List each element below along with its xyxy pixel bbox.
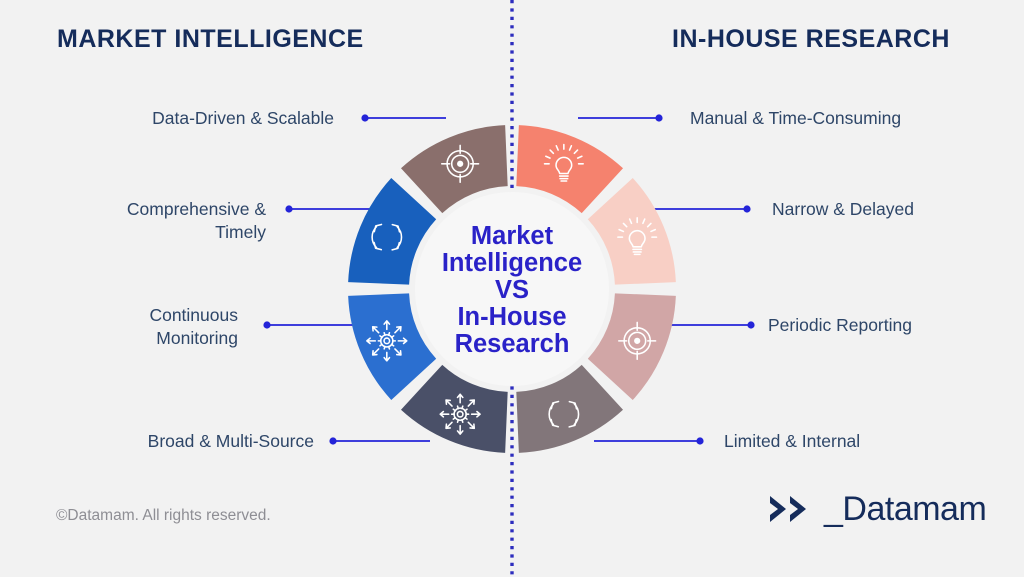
- center-title-line: VS: [495, 276, 529, 304]
- donut-diagram: MarketIntelligenceVSIn-HouseResearch: [0, 0, 1024, 577]
- center-title-line: Research: [455, 330, 570, 358]
- connector-dot: [263, 321, 270, 328]
- connector-dot: [743, 205, 750, 212]
- center-title-line: In-House: [457, 303, 566, 331]
- infographic-canvas: MARKET INTELLIGENCE IN-HOUSE RESEARCH Da…: [0, 0, 1024, 577]
- center-title-line: Intelligence: [442, 249, 582, 277]
- connector-dot: [655, 114, 662, 121]
- connector-dot: [285, 205, 292, 212]
- connector-dot: [696, 437, 703, 444]
- center-title-line: Market: [471, 222, 554, 250]
- connector-dot: [361, 114, 368, 121]
- connector-dot: [747, 321, 754, 328]
- connector-dot: [329, 437, 336, 444]
